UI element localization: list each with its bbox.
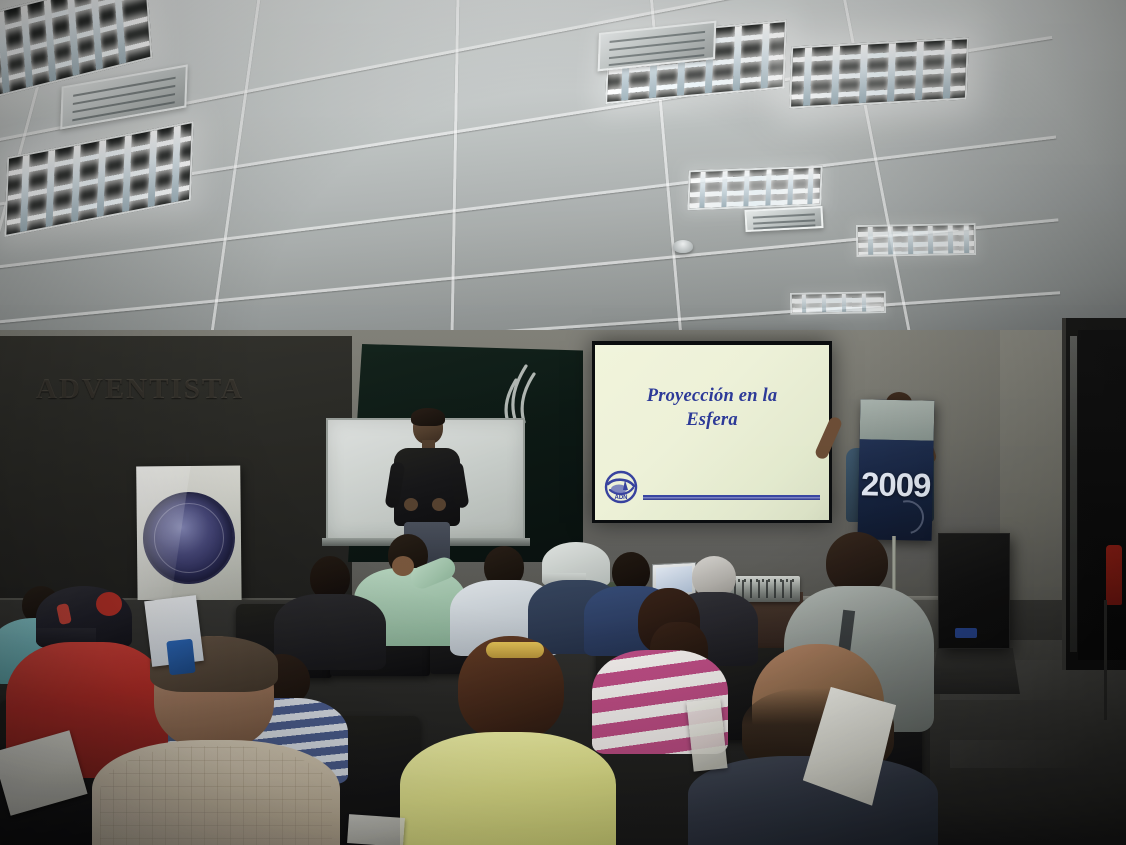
presentation-slide: Proyección en la Esfera ADN (595, 345, 829, 520)
ceiling-air-vent (744, 206, 823, 232)
ceiling-light-fixture (687, 166, 822, 211)
audience-head (826, 532, 888, 594)
smoke-detector-icon (673, 240, 693, 253)
ceiling-light-fixture (790, 291, 886, 315)
photo-scene: ADVENTISTA Proyección en la Esfera (0, 0, 1126, 845)
presenter-left-hand (404, 498, 418, 511)
presenter-hair (411, 408, 445, 426)
hair-clip (486, 642, 544, 658)
slide-title-line-1: Proyección en la (609, 385, 815, 409)
wall-sign-adventista: ADVENTISTA (36, 374, 236, 460)
audience-hand (392, 556, 414, 576)
ceiling-light-fixture (789, 37, 969, 109)
presenter-torso (394, 448, 460, 526)
cap-accent (56, 603, 72, 625)
right-roll-up-banner: 2009 (858, 399, 935, 541)
banner-top-band (860, 399, 935, 441)
audience-body (400, 732, 616, 845)
speaker-brand-badge (955, 628, 977, 638)
slide-organization-logo-icon: ADN (604, 470, 638, 504)
slide-underline-rule (643, 495, 820, 500)
suspended-ceiling (0, 0, 1126, 348)
presenter-right-hand (432, 498, 446, 511)
slide-logo-label: ADN (615, 495, 628, 501)
slide-title-line-2: Esfera (609, 409, 815, 433)
handout-paper[interactable] (686, 698, 727, 771)
doorway-opening[interactable] (1078, 330, 1126, 660)
handout-paper[interactable] (347, 814, 405, 845)
microphone-stand (1104, 600, 1107, 720)
slide-title: Proyección en la Esfera (609, 385, 815, 432)
projection-screen: Proyección en la Esfera ADN (592, 341, 832, 523)
speaker-stand (930, 648, 1020, 694)
ceiling-light-fixture (856, 223, 977, 257)
flame-logo-icon (470, 362, 548, 424)
pa-speaker-cabinet (938, 533, 1010, 649)
blue-object-strap (166, 639, 195, 676)
shirt-check-pattern (100, 746, 332, 845)
cap-logo-icon (96, 592, 122, 616)
right-banner-year: 2009 (858, 465, 933, 505)
audience-member (92, 636, 340, 845)
wall-sign-line-2: ADVENTISTA (36, 374, 236, 404)
audience-member (400, 636, 616, 845)
fire-extinguisher-icon (1106, 545, 1122, 605)
door-glass-pane (1070, 336, 1077, 652)
